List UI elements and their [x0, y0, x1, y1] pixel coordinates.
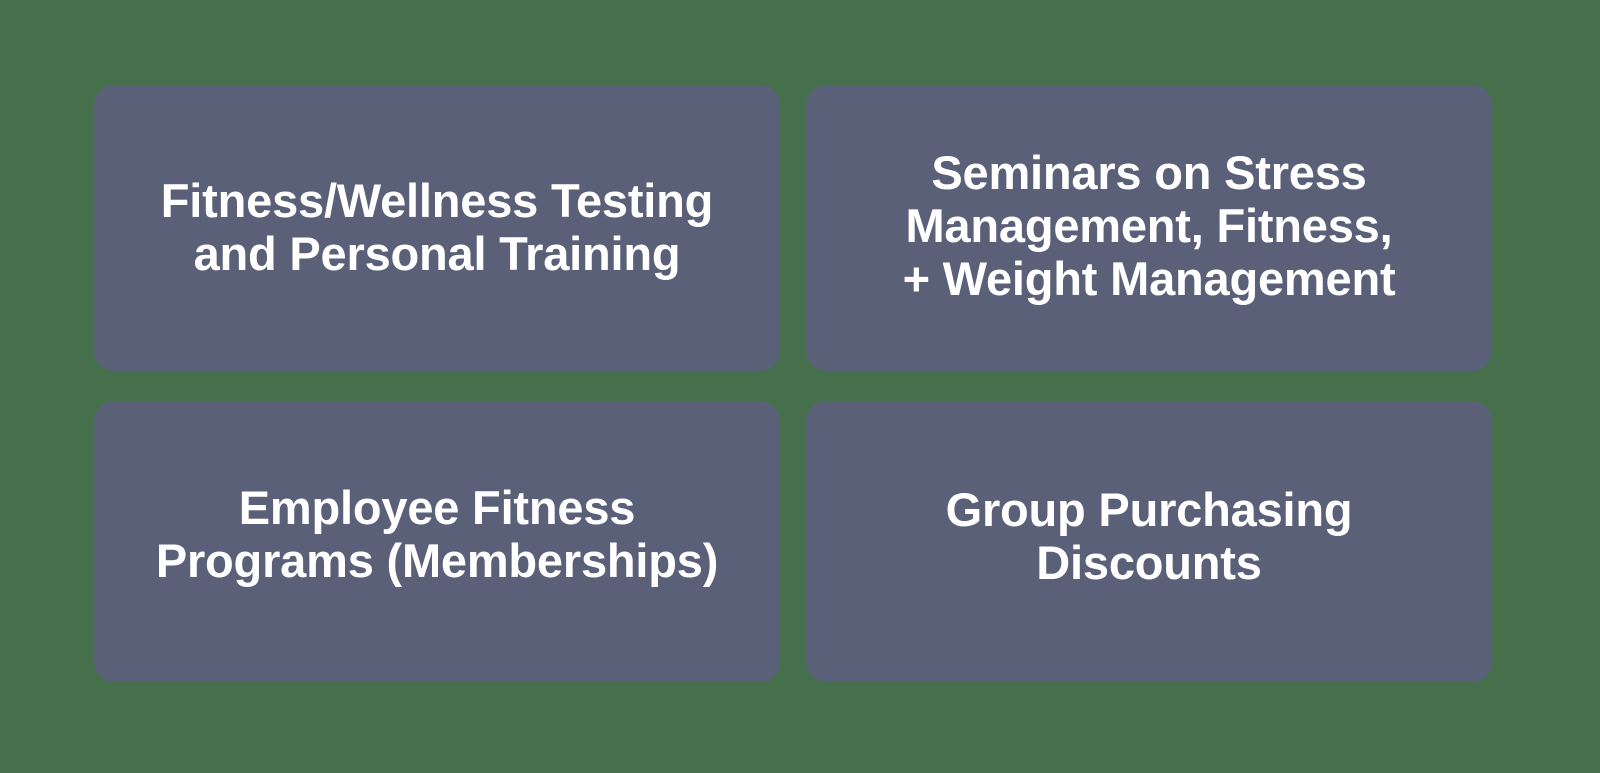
service-card-label: Seminars on Stress Management, Fitness, … — [903, 146, 1396, 305]
service-card-label: Group Purchasing Discounts — [946, 483, 1353, 589]
service-card-seminars-stress-management[interactable]: Seminars on Stress Management, Fitness, … — [806, 85, 1492, 371]
slide-canvas: Fitness/Wellness Testing and Personal Tr… — [0, 0, 1600, 773]
service-card-label: Fitness/Wellness Testing and Personal Tr… — [161, 174, 713, 280]
service-card-employee-fitness-programs[interactable]: Employee Fitness Programs (Memberships) — [94, 401, 780, 682]
service-card-fitness-wellness-testing[interactable]: Fitness/Wellness Testing and Personal Tr… — [94, 85, 780, 371]
service-card-label: Employee Fitness Programs (Memberships) — [156, 481, 718, 587]
service-card-group-purchasing-discounts[interactable]: Group Purchasing Discounts — [806, 401, 1492, 682]
service-card-grid: Fitness/Wellness Testing and Personal Tr… — [94, 85, 1492, 682]
